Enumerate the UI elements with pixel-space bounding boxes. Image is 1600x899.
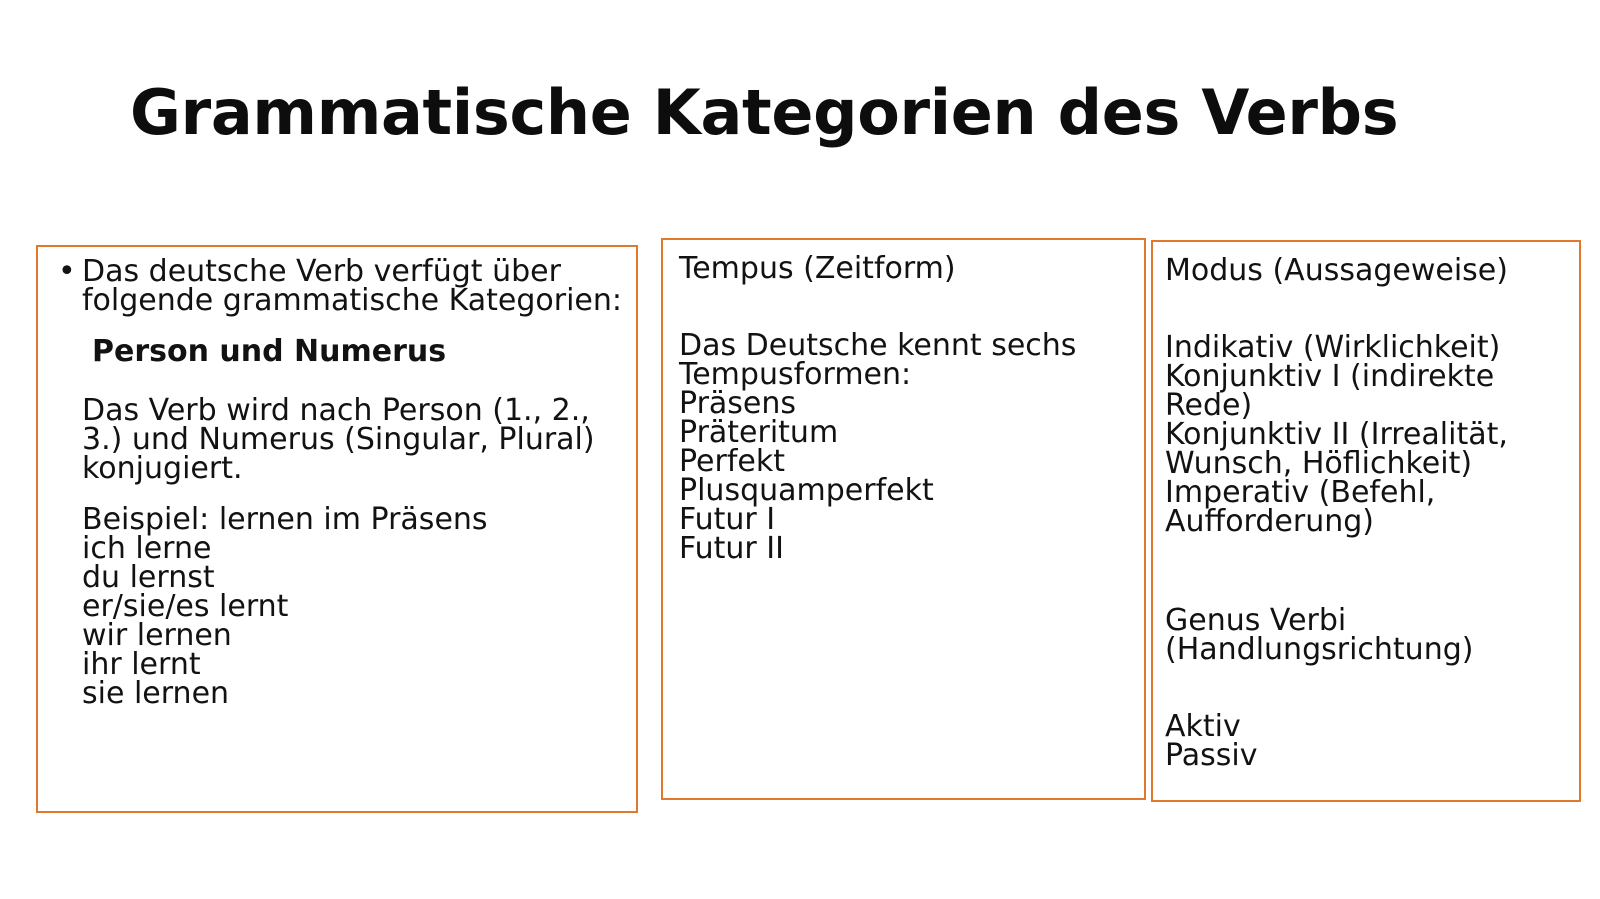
example-label: Beispiel: lernen im Präsens <box>82 505 628 534</box>
intro-tempusformen: Das Deutsche kennt sechs Tempusformen: <box>679 331 1134 389</box>
slide-canvas: Grammatische Kategorien des Verbs • Das … <box>0 0 1600 899</box>
heading-tempus: Tempus (Zeitform) <box>679 254 1134 283</box>
modus-list: Indikativ (Wirklichkeit) Konjunktiv I (i… <box>1159 333 1569 536</box>
description-konjugation: Das Verb wird nach Person (1., 2., 3.) u… <box>82 396 628 483</box>
page-title: Grammatische Kategorien des Verbs <box>130 80 1470 145</box>
spacer <box>1159 285 1569 333</box>
spacer <box>679 283 1134 331</box>
tempus-forms-list: Präsens Präteritum Perfekt Plusquamperfe… <box>679 389 1134 563</box>
bullet-dot-icon: • <box>54 257 82 286</box>
box-modus: Modus (Aussageweise) Indikativ (Wirklich… <box>1151 240 1581 802</box>
subheading-person-und-numerus: Person und Numerus <box>82 337 628 366</box>
box-person-und-numerus: • Das deutsche Verb verfügt über folgend… <box>36 245 638 813</box>
spacer <box>82 366 628 396</box>
heading-modus: Modus (Aussageweise) <box>1159 256 1569 285</box>
spacer <box>1159 664 1569 712</box>
bullet-item-kategorien: • Das deutsche Verb verfügt über folgend… <box>54 257 628 315</box>
box-tempus: Tempus (Zeitform) Das Deutsche kennt sec… <box>661 238 1146 800</box>
intro-text: Das deutsche Verb verfügt über folgende … <box>82 257 628 315</box>
genus-voices-list: Aktiv Passiv <box>1159 712 1569 770</box>
box-person-body: Person und Numerus Das Verb wird nach Pe… <box>54 337 628 708</box>
conjugation-list: ich lerne du lernst er/sie/es lernt wir … <box>82 534 628 708</box>
heading-genus-verbi: Genus Verbi (Handlungsrichtung) <box>1159 606 1569 664</box>
spacer <box>1159 536 1569 584</box>
